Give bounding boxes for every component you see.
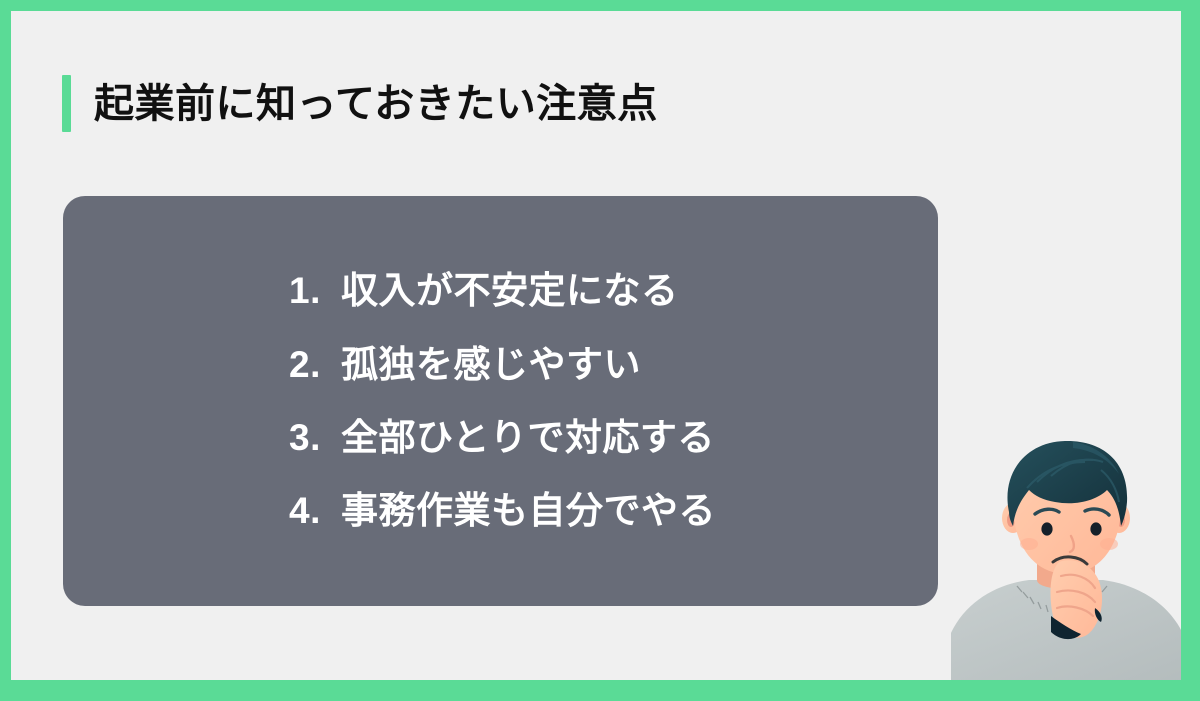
ear-left [1002, 503, 1024, 533]
list-item: 3. 全部ひとりで対応する [289, 417, 715, 458]
list-item-label: 事務作業も自分でやる [341, 490, 716, 531]
face-shape [1013, 446, 1121, 574]
hand-shape [1051, 560, 1103, 637]
slide-frame: 起業前に知っておきたい注意点 1. 収入が不安定になる 2. 孤独を感じやすい … [0, 0, 1200, 701]
list-item-label: 収入が不安定になる [341, 270, 679, 311]
slide-header: 起業前に知っておきたい注意点 [62, 75, 658, 132]
list-item-label: 孤独を感じやすい [341, 344, 641, 385]
finger-lines [1057, 575, 1095, 616]
list-card: 1. 収入が不安定になる 2. 孤独を感じやすい 3. 全部ひとりで対応する 4… [63, 196, 938, 606]
list-item-number: 4. [289, 490, 341, 531]
mouth [1053, 557, 1087, 564]
hair-strands [1027, 460, 1119, 502]
eyebrow-right [1085, 509, 1109, 515]
thumb-nail [1051, 616, 1081, 639]
hair-shape [1007, 441, 1127, 526]
nose [1070, 536, 1074, 552]
list-item-number: 3. [289, 417, 341, 458]
thinking-man-illustration [951, 440, 1181, 680]
eye-left [1041, 522, 1052, 535]
page-title: 起業前に知っておきたい注意点 [94, 84, 658, 124]
neck-shape [1037, 536, 1095, 589]
list-item-label: 全部ひとりで対応する [341, 417, 715, 458]
list-item-number: 2. [289, 344, 341, 385]
list-item: 4. 事務作業も自分でやる [289, 490, 716, 531]
eye-right [1090, 522, 1101, 535]
accent-bar [62, 75, 71, 132]
eyebrow-left [1035, 509, 1059, 514]
neckline-stitches [1017, 586, 1107, 615]
illustration-body [951, 441, 1181, 680]
sweater-shape [951, 580, 1181, 680]
list-item: 1. 収入が不安定になる [289, 270, 679, 311]
ear-right [1108, 503, 1130, 533]
numbered-list: 1. 収入が不安定になる 2. 孤独を感じやすい 3. 全部ひとりで対応する 4… [63, 196, 938, 606]
list-item: 2. 孤独を感じやすい [289, 344, 641, 385]
list-item-number: 1. [289, 270, 341, 311]
slide-canvas: 起業前に知っておきたい注意点 1. 収入が不安定になる 2. 孤独を感じやすい … [11, 11, 1181, 680]
